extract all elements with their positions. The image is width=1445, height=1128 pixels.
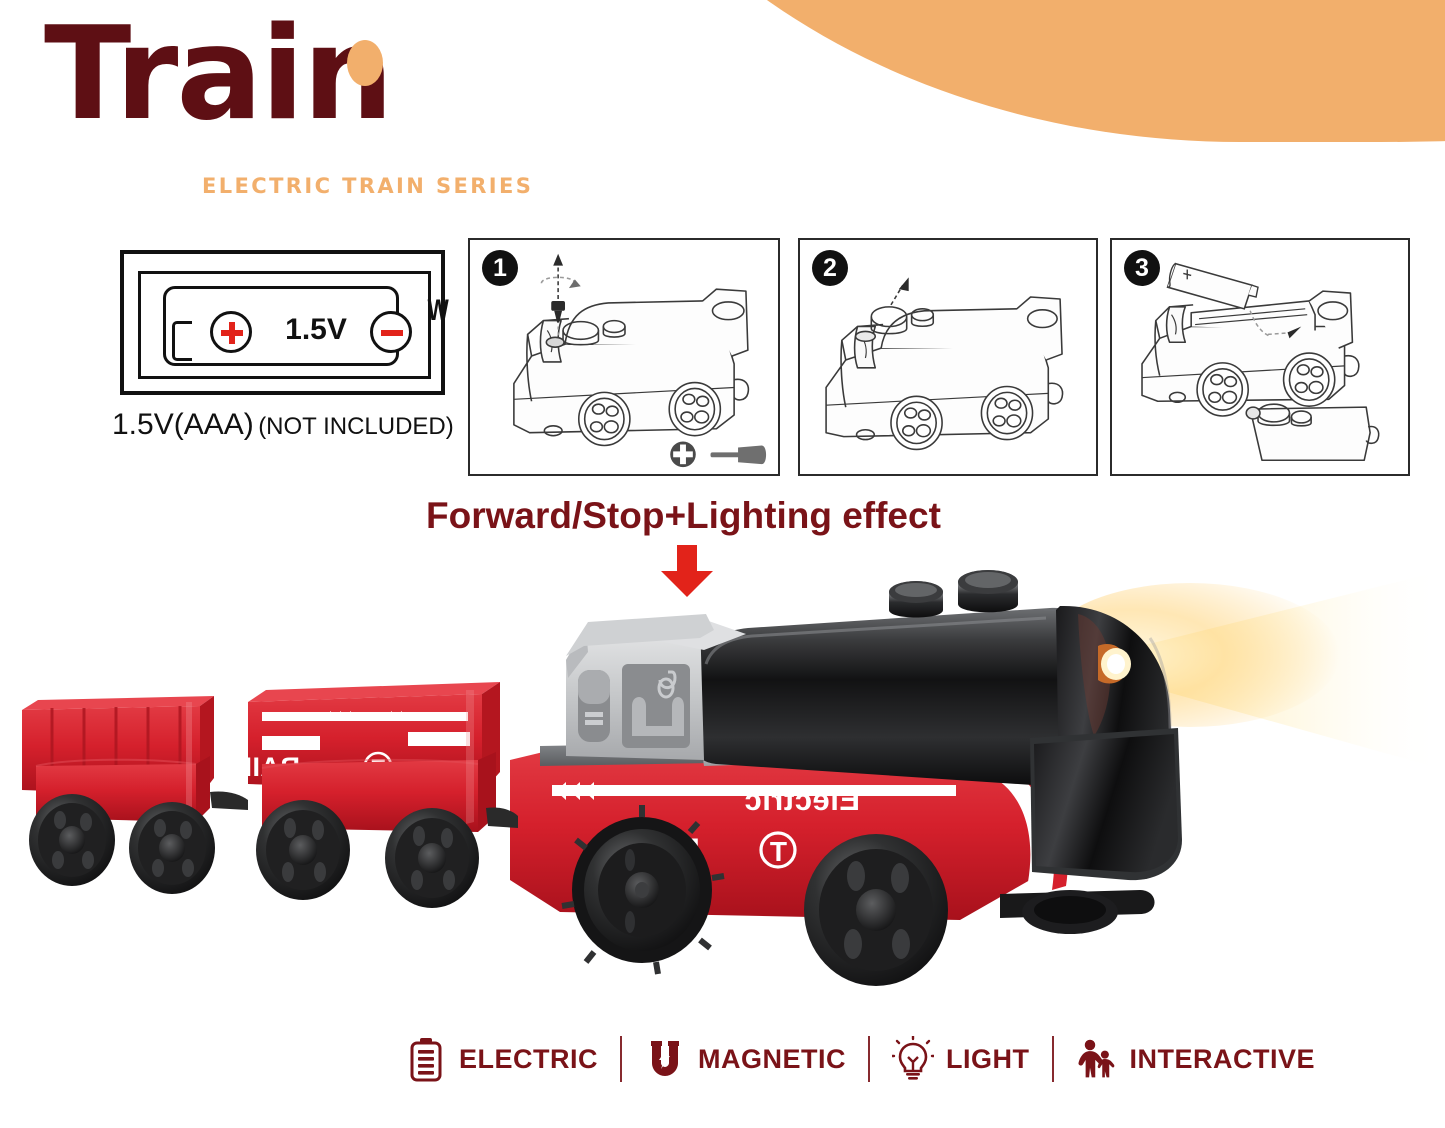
instruction-step-2: 2 [798, 238, 1098, 476]
feature-bar: ELECTRIC MAGNETIC [405, 1028, 1365, 1090]
adult-and-child-icon [1076, 1036, 1118, 1082]
feature-magnetic: MAGNETIC [644, 1028, 846, 1090]
feature-divider [868, 1036, 870, 1082]
feature-label: ELECTRIC [459, 1044, 598, 1075]
svg-text:Electric: Electric [744, 782, 860, 817]
aaa-battery-icon [1168, 264, 1258, 309]
battery-voltage-label: 1.5V [270, 313, 362, 347]
loco-sub-text: Electric [744, 782, 860, 817]
svg-text:T: T [770, 836, 787, 867]
battery-caption-main: 1.5V(AAA) [112, 408, 254, 441]
battery-body: 1.5V [163, 286, 399, 366]
step-2-illustration [800, 240, 1096, 474]
step-1-illustration [470, 240, 778, 474]
magnet-icon [644, 1036, 686, 1082]
callout-text: Forward/Stop+Lighting effect [426, 495, 986, 537]
boiler-domes [889, 570, 1018, 618]
feature-electric: ELECTRIC [405, 1028, 598, 1090]
feature-label: INTERACTIVE [1130, 1044, 1316, 1075]
logo-tagline: ELECTRIC TRAIN SERIES [202, 174, 533, 198]
battery-plus-icon [210, 311, 252, 353]
feature-label: MAGNETIC [698, 1044, 846, 1075]
orange-dot-icon [347, 40, 383, 86]
step-3-illustration [1112, 240, 1408, 474]
feature-interactive: INTERACTIVE [1076, 1028, 1316, 1090]
logo-wordmark: Train [44, 16, 392, 134]
product-photo: RAIN T [0, 560, 1445, 1030]
lightbulb-icon [892, 1036, 934, 1082]
battery-terminal-nub [172, 321, 192, 361]
brand-logo: Train ELECTRIC TRAIN SERIES [42, 16, 512, 196]
battery-outer-frame: 1.5V W [120, 250, 445, 395]
wheel [29, 794, 115, 886]
wagon-flatbed: RAIN T [210, 682, 500, 832]
battery-zigzag-glyph: W [428, 294, 449, 328]
feature-light: LIGHT [892, 1028, 1030, 1090]
feature-label: LIGHT [946, 1044, 1030, 1075]
battery-caption-sub: (NOT INCLUDED) [258, 413, 454, 440]
battery-caption: 1.5V(AAA) (NOT INCLUDED) [112, 408, 454, 442]
instruction-step-3: 3 [1110, 238, 1410, 476]
wheel [129, 802, 215, 894]
wheel [804, 834, 948, 986]
wheel [256, 800, 350, 900]
instruction-step-1: 1 [468, 238, 780, 476]
product-infographic: Motorized Train for Wooden Tracks Train … [0, 0, 1445, 1128]
wheel [385, 808, 479, 908]
train-set-illustration: RAIN T [0, 560, 1445, 1030]
battery-inner-frame: 1.5V [138, 271, 431, 379]
battery-icon [405, 1036, 447, 1082]
battery-minus-icon [370, 311, 412, 353]
feature-divider [1052, 1036, 1054, 1082]
feature-divider [620, 1036, 622, 1082]
phillips-screwdriver-icon [670, 442, 766, 468]
battery-spec: 1.5V W 1.5V(AAA) (NOT INCLUDED) [108, 250, 458, 450]
